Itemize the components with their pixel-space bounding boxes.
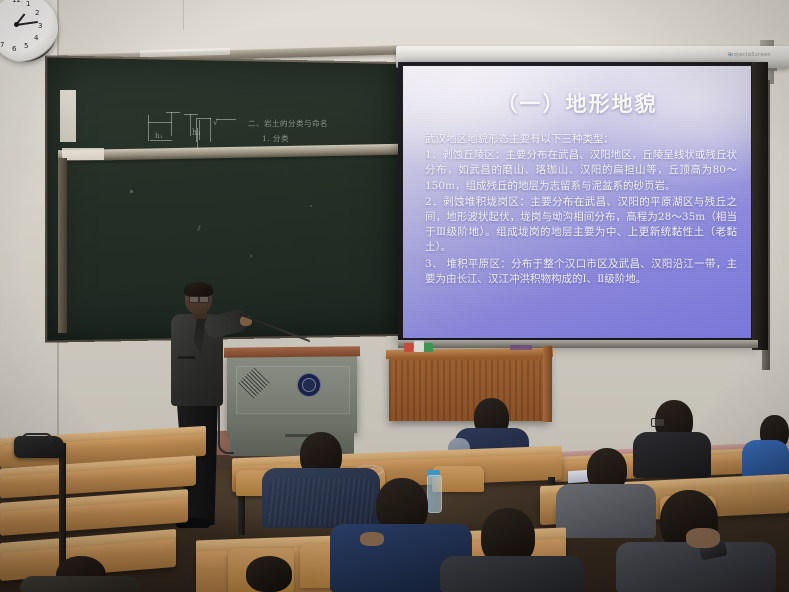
chalk-stroke bbox=[216, 119, 236, 120]
desk-wood-grain bbox=[389, 360, 550, 421]
denim-texture bbox=[268, 478, 374, 526]
chalk-speck bbox=[130, 190, 133, 193]
blackboard-paper-strip bbox=[62, 148, 104, 160]
student-hands bbox=[360, 532, 384, 546]
chalk-stroke bbox=[184, 114, 198, 115]
chalk-speck bbox=[250, 255, 252, 257]
seal-inner-ring bbox=[302, 378, 316, 392]
clock-center-pin bbox=[14, 22, 19, 27]
desk-item-red bbox=[404, 343, 413, 352]
chalk-stroke bbox=[148, 122, 172, 123]
student-body bbox=[556, 484, 656, 538]
clock-numeral-5: 5 bbox=[24, 42, 28, 50]
presentation-slide: （一）地形地貌 武汉地区地貌形态主要有以下三种类型： 1．剥蚀丘陵区：主要分布在… bbox=[403, 66, 751, 338]
blackboard bbox=[45, 55, 400, 342]
clock-numeral-7: 7 bbox=[0, 41, 4, 49]
chalk-stroke bbox=[171, 112, 172, 136]
clock-numeral-6: 6 bbox=[12, 45, 16, 53]
chalk-label-h1: h₁ bbox=[155, 132, 163, 140]
clock-numeral-3: 3 bbox=[38, 22, 42, 30]
bench-leg bbox=[59, 443, 66, 575]
desk-item-green bbox=[424, 343, 433, 352]
clock-numeral-12: 12 bbox=[12, 0, 21, 4]
wall-seam-secondary bbox=[183, 0, 184, 30]
lecturer-hair bbox=[184, 282, 213, 297]
desk-item-purple bbox=[510, 345, 532, 350]
chalk-stroke bbox=[210, 118, 211, 142]
blackboard-left-frame bbox=[58, 158, 67, 333]
blackboard-notice-paper bbox=[60, 90, 76, 142]
bag-strap bbox=[22, 433, 52, 442]
desk-right-panel bbox=[543, 346, 552, 422]
student-body bbox=[616, 542, 776, 592]
clock-numeral-4: 4 bbox=[34, 34, 38, 42]
clock-numeral-1: 1 bbox=[26, 0, 30, 8]
chalk-stroke bbox=[197, 118, 211, 119]
chalk-stroke bbox=[190, 114, 191, 136]
student-body bbox=[633, 432, 711, 478]
screen-bottom-bar bbox=[398, 340, 758, 348]
chalk-speck bbox=[310, 205, 312, 207]
chalk-note-line1: 二、岩土的分类与命名 bbox=[248, 118, 328, 129]
desk-item-white bbox=[414, 341, 424, 352]
lecturer-glasses-left-lens bbox=[189, 296, 199, 303]
student-glasses bbox=[651, 418, 665, 427]
student-head bbox=[246, 556, 292, 592]
chalk-note-line2: 1. 分类 bbox=[262, 133, 289, 144]
clock-numeral-2: 2 bbox=[35, 9, 39, 17]
lecture-hall-photo: 12 1 2 3 4 5 6 7 h₁ h₁ √ 二、岩土的分类与命名 1. 分… bbox=[0, 0, 789, 592]
chalk-stroke bbox=[148, 115, 149, 141]
podium-wood-top bbox=[224, 346, 360, 357]
lecturer-glasses-right-lens bbox=[199, 296, 209, 303]
student-body bbox=[440, 556, 584, 592]
podium-cable bbox=[218, 404, 234, 454]
lecturer-pocket bbox=[178, 356, 195, 359]
water-bottle bbox=[427, 475, 442, 513]
chalk-stroke bbox=[166, 112, 180, 113]
chalk-stroke bbox=[150, 140, 172, 141]
chalk-stroke bbox=[199, 120, 200, 140]
slide-scanline-overlay bbox=[403, 66, 751, 338]
screen-side-edge bbox=[752, 62, 768, 350]
student-hand bbox=[686, 528, 720, 548]
chalk-stroke bbox=[196, 118, 197, 142]
screen-brand-label: ProjectaScreen bbox=[728, 52, 771, 58]
student-body bbox=[20, 576, 140, 592]
